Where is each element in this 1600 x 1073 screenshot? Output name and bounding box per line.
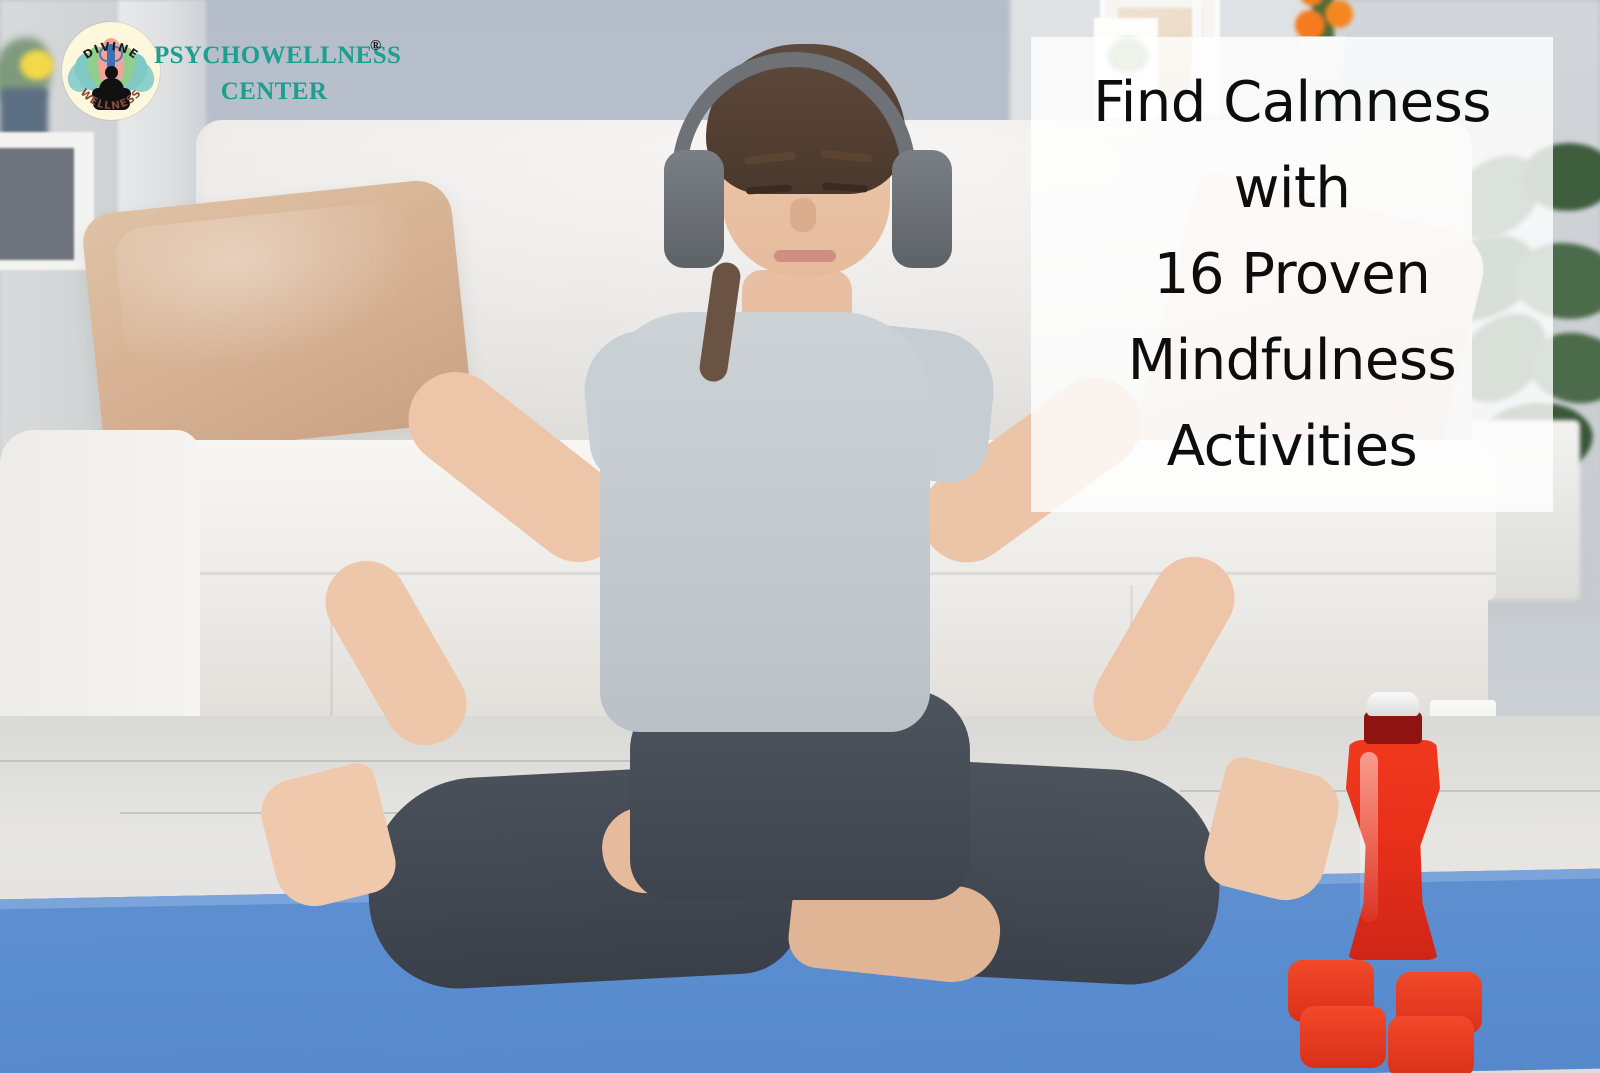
headphone-earcup-right	[892, 150, 952, 268]
bottle-neck	[1364, 712, 1422, 744]
brand-name: PSYCHOWELLNESS CENTER	[154, 38, 394, 110]
mouth	[774, 250, 836, 262]
badge-arc-text: DIVINE WELLNESS	[62, 22, 160, 120]
nose	[790, 198, 816, 232]
svg-text:DIVINE: DIVINE	[80, 39, 141, 62]
registered-trademark-icon: ®	[370, 38, 381, 55]
headline-line-1: Find Calmness	[1093, 60, 1491, 146]
bottle-highlight	[1360, 752, 1378, 922]
brand-name-line-2: CENTER	[221, 78, 328, 105]
torso-tshirt	[600, 312, 930, 732]
brand-logo[interactable]: DIVINE WELLNESS PSYCHOWELLNESS CENTER ®	[62, 20, 392, 128]
badge-bottom-arc-label: WELLNESS	[78, 87, 145, 113]
headline-line-2: with	[1234, 146, 1351, 232]
bottle-cap	[1367, 692, 1419, 716]
red-dumbbell	[1388, 1016, 1474, 1073]
headline-line-4: Mindfulness	[1128, 318, 1456, 404]
headline-text: Find Calmness with 16 Proven Mindfulness…	[1031, 37, 1553, 512]
divine-wellness-badge-icon: DIVINE WELLNESS	[62, 22, 160, 120]
promotional-banner: DIVINE WELLNESS PSYCHOWELLNESS CENTER ® …	[0, 0, 1600, 1073]
right-hand-mudra	[1198, 753, 1346, 908]
headline-line-3: 16 Proven	[1154, 232, 1430, 318]
left-forearm	[310, 546, 481, 760]
brand-name-line-1: PSYCHOWELLNESS	[154, 42, 401, 69]
headphone-earcup-left	[664, 150, 724, 268]
right-forearm	[1078, 542, 1249, 756]
headline-line-5: Activities	[1167, 404, 1417, 490]
svg-text:WELLNESS: WELLNESS	[78, 87, 145, 113]
red-dumbbell	[1300, 1006, 1386, 1068]
badge-top-arc-label: DIVINE	[80, 39, 141, 62]
